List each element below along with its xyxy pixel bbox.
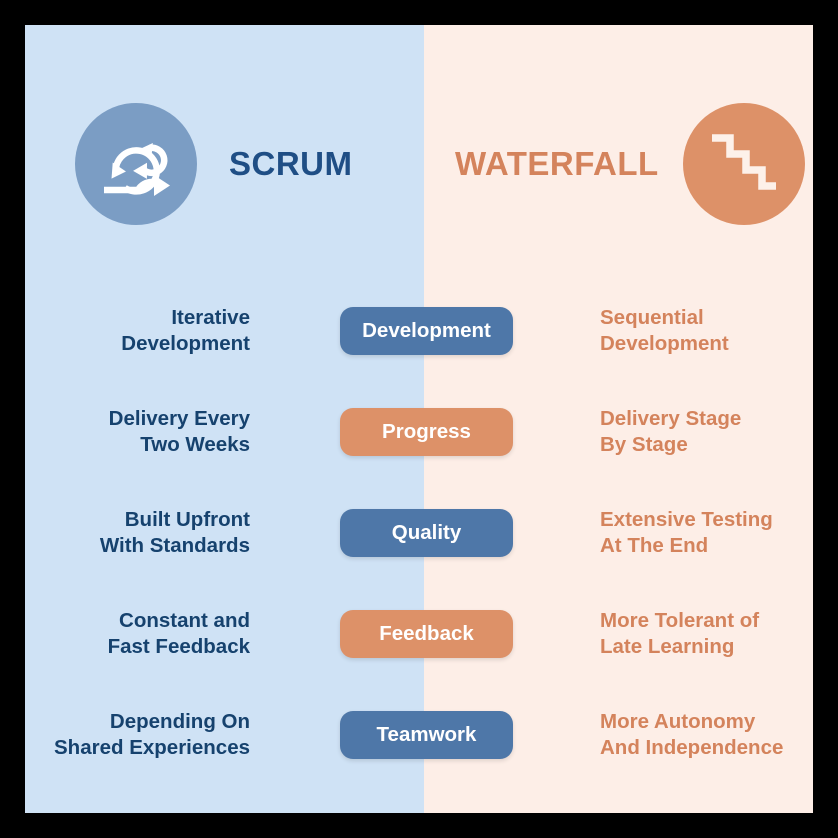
comparison-row: Iterative Development Development Sequen… (25, 280, 813, 381)
waterfall-badge (683, 103, 805, 225)
waterfall-brand: WATERFALL (455, 103, 805, 225)
comparison-row: Depending On Shared Experiences Teamwork… (25, 684, 813, 785)
scrum-value: Constant and Fast Feedback (108, 607, 250, 659)
scrum-value: Built Upfront With Standards (100, 506, 250, 558)
category-pill-feedback[interactable]: Feedback (340, 610, 513, 658)
circular-arrows-icon (94, 122, 178, 206)
waterfall-value: More Tolerant of Late Learning (600, 607, 759, 659)
scrum-arrow-head-left (105, 163, 126, 184)
scrum-value: Delivery Every Two Weeks (109, 405, 250, 457)
waterfall-value: More Autonomy And Independence (600, 708, 783, 760)
waterfall-value: Extensive Testing At The End (600, 506, 773, 558)
infographic-header: SCRUM WATERFALL (25, 25, 813, 280)
comparison-rows: Iterative Development Development Sequen… (25, 280, 813, 785)
scrum-vs-waterfall-infographic: SCRUM WATERFALL Iterative Development De… (0, 0, 838, 838)
scrum-brand: SCRUM (75, 103, 353, 225)
infographic-canvas: SCRUM WATERFALL Iterative Development De… (25, 25, 813, 813)
category-pill-quality[interactable]: Quality (340, 509, 513, 557)
scrum-value: Iterative Development (121, 304, 250, 356)
staircase-icon (704, 124, 784, 204)
scrum-badge (75, 103, 197, 225)
category-pill-teamwork[interactable]: Teamwork (340, 711, 513, 759)
category-pill-development[interactable]: Development (340, 307, 513, 355)
waterfall-title: WATERFALL (455, 145, 659, 183)
scrum-arrow-head-right (154, 175, 170, 196)
comparison-row: Built Upfront With Standards Quality Ext… (25, 482, 813, 583)
scrum-value: Depending On Shared Experiences (54, 708, 250, 760)
waterfall-value: Sequential Development (600, 304, 729, 356)
comparison-row: Delivery Every Two Weeks Progress Delive… (25, 381, 813, 482)
waterfall-value: Delivery Stage By Stage (600, 405, 741, 457)
scrum-title: SCRUM (229, 145, 353, 183)
comparison-row: Constant and Fast Feedback Feedback More… (25, 583, 813, 684)
category-pill-progress[interactable]: Progress (340, 408, 513, 456)
